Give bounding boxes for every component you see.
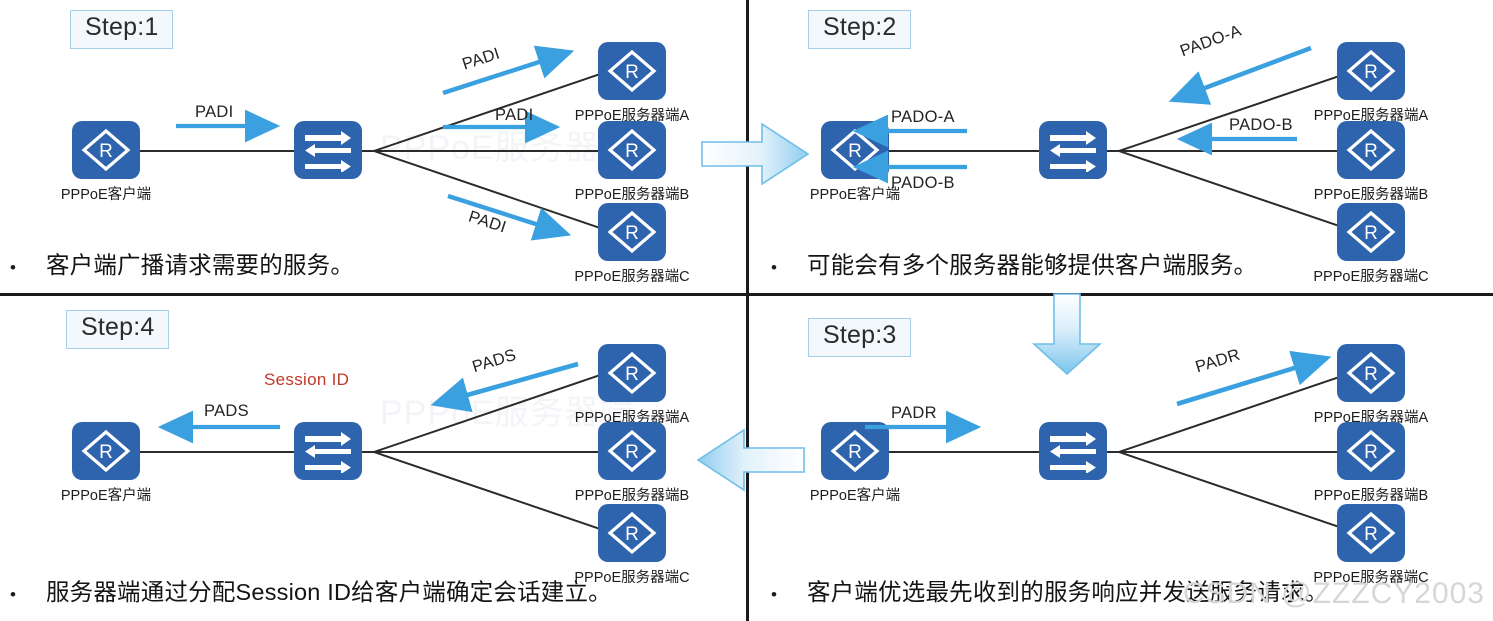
svg-text:R: R	[625, 223, 639, 244]
step2-badge: Step:2	[808, 10, 911, 49]
device-serverC-step4: R PPPoE服务器端C	[598, 504, 666, 562]
device-client-step3: R PPPoE客户端	[821, 422, 889, 480]
router-icon: R	[598, 422, 666, 480]
router-icon: R	[821, 121, 889, 179]
device-switch-step1	[294, 121, 362, 179]
label-padi-serverA: PADI	[460, 45, 502, 75]
caption-text-step2: 可能会有多个服务器能够提供客户端服务。	[807, 246, 1257, 280]
router-icon: R	[1337, 504, 1405, 562]
svg-text:R: R	[1364, 442, 1378, 463]
router-icon: R	[1337, 42, 1405, 100]
device-serverB-step3: R PPPoE服务器端B	[1337, 422, 1405, 480]
device-label-client-step4: PPPoE客户端	[61, 484, 151, 505]
svg-text:R: R	[625, 141, 639, 162]
wire-switch-serverA-1	[374, 70, 609, 151]
device-serverB-step1: R PPPoE服务器端B	[598, 121, 666, 179]
device-serverB-step4: R PPPoE服务器端B	[598, 422, 666, 480]
svg-text:R: R	[1364, 62, 1378, 83]
device-serverA-step2: R PPPoE服务器端A	[1337, 42, 1405, 100]
svg-text:R: R	[625, 62, 639, 83]
router-icon: R	[1337, 344, 1405, 402]
transition-arrow-step1-to-step2	[700, 118, 812, 190]
device-label-serverC-step1: PPPoE服务器端C	[574, 265, 689, 286]
bullet-dot: •	[10, 586, 16, 603]
wire-switch-serverB-1	[374, 150, 600, 152]
svg-text:R: R	[625, 364, 639, 385]
bullet-dot: •	[10, 259, 16, 276]
router-icon: R	[1337, 121, 1405, 179]
label-pado-b-client: PADO-B	[891, 174, 955, 193]
svg-text:R: R	[848, 141, 862, 162]
device-label-serverB-step1: PPPoE服务器端B	[575, 183, 689, 204]
svg-text:R: R	[99, 141, 113, 162]
label-pads-client: PADS	[204, 402, 249, 421]
router-icon: R	[1337, 422, 1405, 480]
device-label-serverB-step4: PPPoE服务器端B	[575, 484, 689, 505]
device-serverC-step3: R PPPoE服务器端C	[1337, 504, 1405, 562]
device-serverA-step1: R PPPoE服务器端A	[598, 42, 666, 100]
watermark: CSDN @ZZZCY2003	[1183, 577, 1485, 611]
divider-horizontal	[0, 293, 1493, 296]
transition-arrow-step3-to-step4	[694, 424, 806, 496]
step1-badge: Step:1	[70, 10, 173, 49]
label-padi-client: PADI	[195, 103, 234, 122]
device-label-client-step3: PPPoE客户端	[810, 484, 900, 505]
device-serverA-step4: R PPPoE服务器端A	[598, 344, 666, 402]
label-pads-serverA: PADS	[470, 346, 519, 377]
router-icon: R	[598, 203, 666, 261]
label-padr-client: PADR	[891, 404, 937, 423]
panel-step1: Step:1 R PPPoE客户端	[0, 0, 746, 293]
divider-vertical	[746, 0, 749, 621]
caption-step4: • 服务器端通过分配Session ID给客户端确定会话建立。	[10, 573, 612, 607]
device-label-serverC-step2: PPPoE服务器端C	[1313, 265, 1428, 286]
device-switch-step4	[294, 422, 362, 480]
label-pado-a-client: PADO-A	[891, 108, 955, 127]
pppoe-diagram-canvas: PPPoE服务器端 PPPoE服务器端 Step:1 R PPPoE客户端	[0, 0, 1493, 621]
svg-text:R: R	[1364, 524, 1378, 545]
transition-arrow-step2-to-step3	[1028, 292, 1106, 376]
device-serverA-step3: R PPPoE服务器端A	[1337, 344, 1405, 402]
wire-switch-serverB-2	[1119, 150, 1347, 152]
device-client-step1: R PPPoE客户端	[72, 121, 140, 179]
panel-step2: Step:2 R PPPoE客户端	[749, 0, 1493, 293]
wire-switch-serverB-4	[374, 451, 600, 453]
label-padi-serverC: PADI	[466, 208, 508, 238]
router-icon: R	[598, 42, 666, 100]
switch-icon	[294, 121, 362, 179]
switch-icon	[1039, 121, 1107, 179]
step3-badge: Step:3	[808, 318, 911, 357]
caption-step1: • 客户端广播请求需要的服务。	[10, 246, 354, 280]
label-padr-serverA: PADR	[1193, 346, 1242, 378]
device-client-step4: R PPPoE客户端	[72, 422, 140, 480]
panel-step3: Step:3 R PPPoE客户端	[749, 296, 1493, 621]
device-client-step2: R PPPoE客户端	[821, 121, 889, 179]
svg-text:R: R	[1364, 364, 1378, 385]
svg-text:R: R	[1364, 223, 1378, 244]
router-icon: R	[598, 344, 666, 402]
router-icon: R	[72, 121, 140, 179]
caption-step2: • 可能会有多个服务器能够提供客户端服务。	[771, 246, 1257, 280]
bullet-dot: •	[771, 586, 777, 603]
router-icon: R	[598, 504, 666, 562]
svg-text:R: R	[848, 442, 862, 463]
device-switch-step3	[1039, 422, 1107, 480]
label-session-id: Session ID	[264, 370, 349, 390]
device-label-client-step1: PPPoE客户端	[61, 183, 151, 204]
device-serverC-step2: R PPPoE服务器端C	[1337, 203, 1405, 261]
device-serverC-step1: R PPPoE服务器端C	[598, 203, 666, 261]
svg-text:R: R	[99, 442, 113, 463]
label-padi-serverB: PADI	[495, 106, 534, 125]
device-label-client-step2: PPPoE客户端	[810, 183, 900, 204]
router-icon: R	[598, 121, 666, 179]
svg-text:R: R	[1364, 141, 1378, 162]
panel-step4: Step:4 R PPPoE客户端	[0, 296, 746, 621]
svg-text:R: R	[625, 524, 639, 545]
router-icon: R	[821, 422, 889, 480]
bullet-dot: •	[771, 259, 777, 276]
switch-icon	[294, 422, 362, 480]
wire-switch-serverB-3	[1119, 451, 1347, 453]
router-icon: R	[72, 422, 140, 480]
label-pado-a-serverA: PADO-A	[1178, 22, 1244, 62]
caption-text-step4: 服务器端通过分配Session ID给客户端确定会话建立。	[46, 573, 612, 607]
label-pado-b-serverB: PADO-B	[1229, 116, 1293, 135]
switch-icon	[1039, 422, 1107, 480]
device-label-serverB-step3: PPPoE服务器端B	[1314, 484, 1428, 505]
device-label-serverB-step2: PPPoE服务器端B	[1314, 183, 1428, 204]
caption-text-step1: 客户端广播请求需要的服务。	[46, 246, 354, 280]
router-icon: R	[1337, 203, 1405, 261]
device-serverB-step2: R PPPoE服务器端B	[1337, 121, 1405, 179]
wire-switch-serverC-4	[374, 451, 609, 532]
step4-badge: Step:4	[66, 310, 169, 349]
device-switch-step2	[1039, 121, 1107, 179]
wire-switch-serverA-4	[374, 371, 609, 452]
svg-text:R: R	[625, 442, 639, 463]
